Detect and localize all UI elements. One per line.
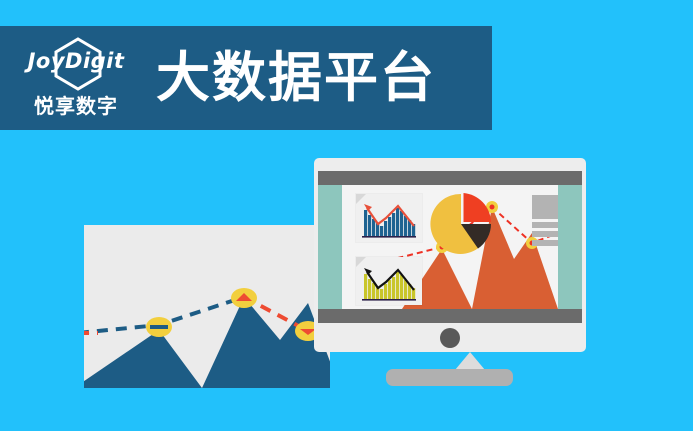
- card-fold-corner: [356, 257, 366, 267]
- document-placeholder: [532, 195, 558, 246]
- pie-chart: [428, 191, 494, 257]
- axis-line: [362, 299, 416, 301]
- bar-series: [364, 208, 415, 236]
- desktop-monitor: [314, 158, 586, 352]
- data-marker: [231, 288, 257, 308]
- blue-bar-card: [356, 194, 422, 242]
- axis-line: [362, 236, 416, 238]
- monitor-power-button[interactable]: [440, 328, 460, 348]
- monitor-top-bar: [318, 171, 582, 185]
- document-image-placeholder: [532, 195, 558, 219]
- card-fold-corner: [356, 194, 366, 204]
- monitor-base: [386, 369, 513, 386]
- logo-subtitle: 悦享数字: [14, 90, 138, 119]
- document-text-line: [532, 222, 558, 228]
- monitor-bottom-bar: [318, 309, 582, 323]
- logo-wordmark: JoyDigit: [14, 49, 138, 73]
- blue-mountain-chart: [84, 225, 330, 388]
- screen-side-panel-right: [558, 185, 582, 309]
- monitor-screen: [318, 185, 582, 309]
- dashboard-content: [342, 185, 558, 309]
- arrow-up-icon: [364, 204, 372, 211]
- header-banner: JoyDigit 悦享数字 大数据平台: [0, 26, 492, 130]
- pie-slice-b: [464, 193, 492, 222]
- page-title: 大数据平台: [156, 51, 436, 105]
- bar-series: [364, 272, 415, 299]
- brand-logo[interactable]: JoyDigit 悦享数字: [14, 35, 138, 121]
- blue-mountain-panel: [84, 225, 330, 388]
- poster-canvas: JoyDigit 悦享数字 大数据平台: [0, 0, 693, 431]
- arrow-up-icon: [364, 268, 372, 275]
- screen-side-panel-left: [318, 185, 342, 309]
- yellow-bar-card: [356, 257, 422, 305]
- data-marker: [146, 317, 172, 337]
- document-text-line: [532, 240, 558, 246]
- mountain-shape: [84, 297, 330, 388]
- document-text-line: [532, 231, 558, 237]
